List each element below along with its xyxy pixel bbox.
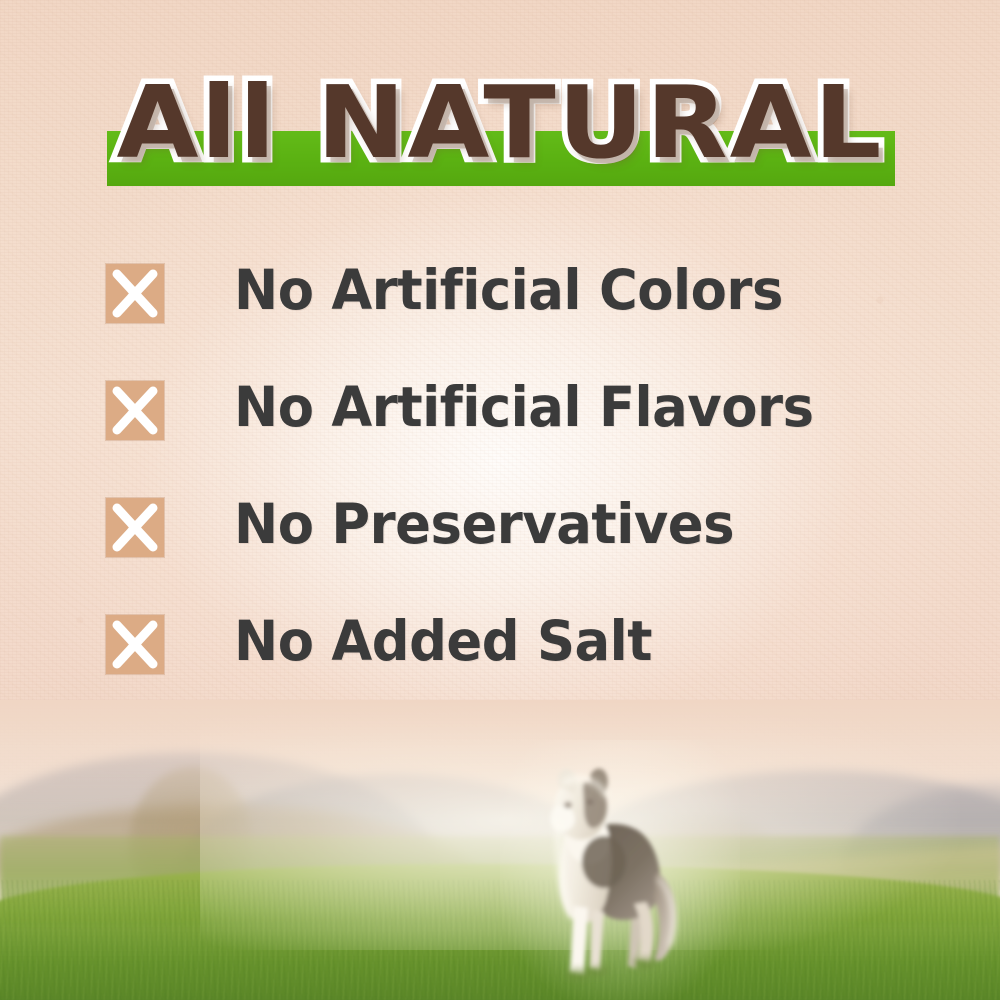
border-collie-dog xyxy=(528,760,708,992)
list-item: No Artificial Colors xyxy=(106,258,926,375)
list-item: No Preservatives xyxy=(106,492,926,609)
feature-label: No Added Salt xyxy=(234,603,652,679)
list-item: No Artificial Flavors xyxy=(106,375,926,492)
feature-label: No Preservatives xyxy=(234,486,734,562)
feature-label: No Artificial Colors xyxy=(234,252,783,328)
page-title: All NATURAL xyxy=(0,68,1000,178)
x-mark-icon xyxy=(106,381,164,440)
feature-list: No Artificial Colors No Artificial Flavo… xyxy=(106,258,926,726)
feature-label: No Artificial Flavors xyxy=(234,369,814,445)
foreground-grass xyxy=(0,864,1000,1000)
title-banner: All NATURAL xyxy=(0,68,1000,196)
x-mark-icon xyxy=(106,615,164,674)
x-mark-icon xyxy=(106,498,164,557)
product-feature-panel: All NATURAL No Artificial Colors xyxy=(0,0,1000,1000)
x-mark-icon xyxy=(106,264,164,323)
landscape-photo xyxy=(0,700,1000,1000)
